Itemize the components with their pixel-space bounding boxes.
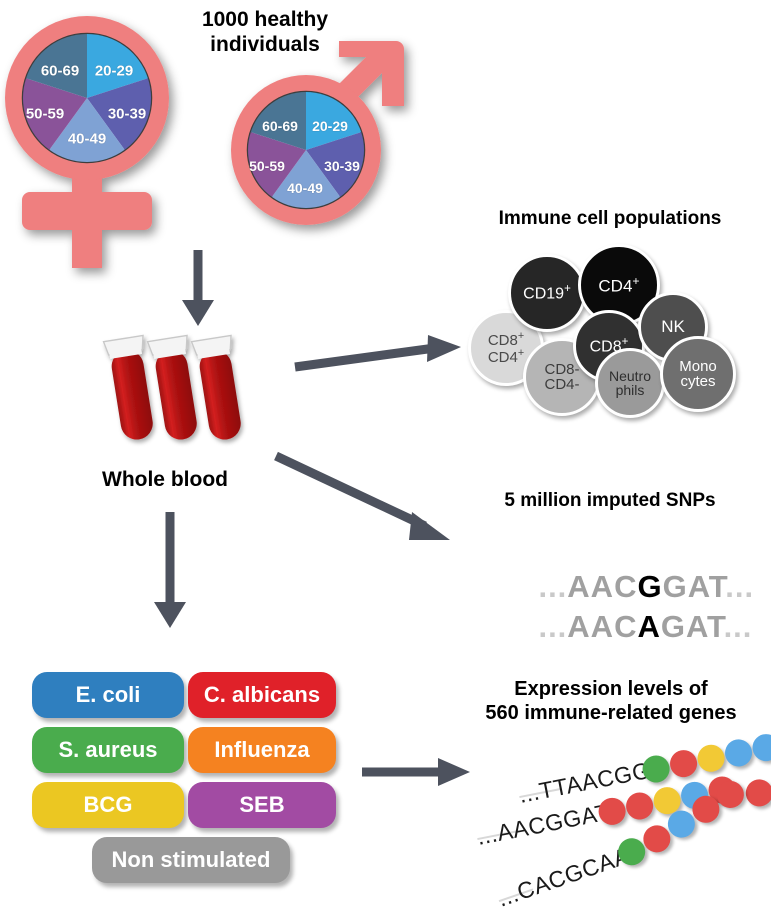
figure-canvas: 20-29 30-39 40-49 50-59 60-69 1000 healt…	[0, 0, 771, 922]
snp2-suffix: ...	[724, 609, 753, 644]
bubble-neutrophils-label: Neutrophils	[609, 369, 651, 398]
stimulation-label-bcg: BCG	[84, 792, 133, 818]
bubble-monocytes[interactable]: Monocytes	[660, 336, 736, 412]
strand-1-bead-4	[723, 737, 755, 769]
stimulation-label-non-stimulated: Non stimulated	[112, 847, 271, 873]
snp-sequence-2: ...AACAGAT...	[500, 573, 752, 681]
arrow-blood-to-snps	[270, 450, 460, 550]
immune-cell-bubbles: CD8+CD4+ CD19+ CD4+ CD8-CD4- CD8+ NK Neu…	[460, 240, 760, 415]
snp2-variant: A	[637, 609, 660, 644]
strand-1-bead-2	[668, 748, 700, 780]
stimulation-pill-c-albicans[interactable]: C. albicans	[188, 672, 336, 718]
snp2-prefix: ...	[538, 609, 567, 644]
stimulation-label-s-aureus: S. aureus	[58, 737, 157, 763]
expression-title: Expression levels of 560 immune-related …	[452, 678, 770, 725]
female-symbol: 20-29 30-39 40-49 50-59 60-69	[2, 8, 192, 238]
bubble-cd8p-cd4p-label: CD8+CD4+	[488, 331, 524, 366]
male-pie-label-50-59: 50-59	[249, 158, 285, 174]
bubble-cd8n-cd4n-label: CD8-CD4-	[544, 362, 579, 393]
snp2-right: GAT	[661, 609, 724, 644]
arrow-blood-to-stimulations	[150, 512, 190, 632]
male-symbol: 20-29 30-39 40-49 50-59 60-69	[208, 28, 418, 243]
female-pie-label-20-29: 20-29	[95, 63, 133, 80]
bubble-nk-label: NK	[661, 318, 685, 335]
bubble-monocytes-label: Monocytes	[679, 359, 717, 390]
stimulation-label-seb: SEB	[239, 792, 284, 818]
immune-cell-title: Immune cell populations	[455, 208, 765, 230]
female-pie-label-40-49: 40-49	[68, 131, 106, 148]
strand-2-bead-2	[624, 790, 656, 822]
stimulation-label-influenza: Influenza	[214, 737, 309, 763]
stimulation-pill-e-coli[interactable]: E. coli	[32, 672, 184, 718]
whole-blood-label: Whole blood	[75, 468, 255, 493]
bubble-cd4p-label: CD4+	[598, 275, 639, 295]
strand-1-bead-3	[695, 742, 727, 774]
female-pie-label-30-39: 30-39	[108, 106, 146, 123]
bubble-cd19p[interactable]: CD19+	[508, 254, 586, 332]
male-pie-label-30-39: 30-39	[324, 158, 360, 174]
male-pie-label-20-29: 20-29	[312, 118, 348, 134]
bubble-neutrophils[interactable]: Neutrophils	[595, 348, 665, 418]
stimulation-pill-influenza[interactable]: Influenza	[188, 727, 336, 773]
male-pie-label-60-69: 60-69	[262, 118, 298, 134]
arrow-blood-to-immune	[295, 330, 465, 380]
stimulation-pill-bcg[interactable]: BCG	[32, 782, 184, 828]
arrow-cohort-to-blood	[178, 250, 218, 330]
arrow-stimulations-to-expression	[362, 752, 472, 792]
stimulation-pill-s-aureus[interactable]: S. aureus	[32, 727, 184, 773]
male-pie-label-40-49: 40-49	[287, 180, 323, 196]
whole-blood-tubes	[100, 330, 270, 465]
stimulation-pill-seb[interactable]: SEB	[188, 782, 336, 828]
female-pie-label-50-59: 50-59	[26, 106, 64, 123]
blood-tube-3	[192, 335, 247, 442]
stimulation-pill-non-stimulated[interactable]: Non stimulated	[92, 837, 290, 883]
snp2-left: AAC	[567, 609, 637, 644]
stimulation-label-c-albicans: C. albicans	[204, 682, 320, 708]
stimulation-label-e-coli: E. coli	[76, 682, 141, 708]
bubble-cd19p-label: CD19+	[523, 284, 571, 303]
strand-1-bead-5	[750, 732, 771, 764]
snp-title: 5 million imputed SNPs	[455, 490, 765, 512]
female-pie-label-60-69: 60-69	[41, 63, 79, 80]
